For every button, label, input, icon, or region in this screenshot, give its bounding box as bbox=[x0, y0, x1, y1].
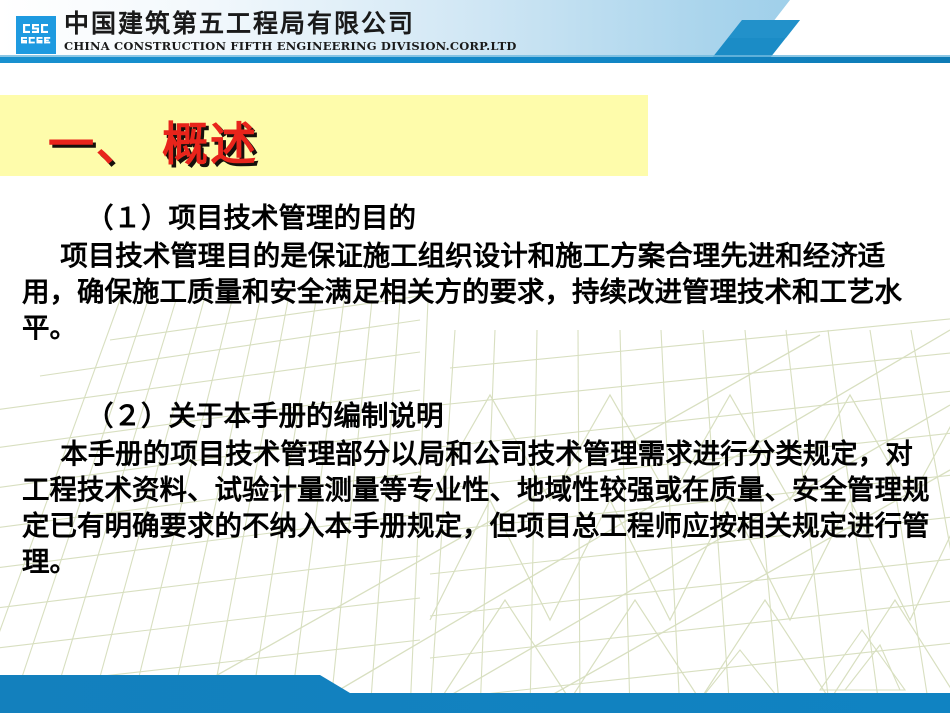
page-title: 一、 概述 bbox=[48, 108, 258, 174]
section-2-heading: （２）关于本手册的编制说明 bbox=[0, 398, 950, 434]
section-2-body: 本手册的项目技术管理部分以局和公司技术管理需求进行分类规定，对工程技术资料、试验… bbox=[0, 436, 950, 580]
header-content: 中国建筑第五工程局有限公司 CHINA CONSTRUCTION FIFTH E… bbox=[0, 0, 950, 60]
company-name-en: CHINA CONSTRUCTION FIFTH ENGINEERING DIV… bbox=[64, 39, 484, 54]
company-name-cn: 中国建筑第五工程局有限公司 bbox=[64, 9, 484, 39]
company-name-block: 中国建筑第五工程局有限公司 CHINA CONSTRUCTION FIFTH E… bbox=[64, 9, 484, 54]
slide-header: 中国建筑第五工程局有限公司 CHINA CONSTRUCTION FIFTH E… bbox=[0, 0, 950, 64]
slide-body: （１）项目技术管理的目的 项目技术管理目的是保证施工组织设计和施工方案合理先进和… bbox=[0, 200, 950, 580]
slide-canvas: 中国建筑第五工程局有限公司 CHINA CONSTRUCTION FIFTH E… bbox=[0, 0, 950, 713]
title-banner: 一、 概述 bbox=[0, 95, 648, 176]
cscec-logo-icon bbox=[16, 16, 56, 54]
section-1-heading: （１）项目技术管理的目的 bbox=[0, 200, 950, 236]
footer-band bbox=[0, 663, 950, 713]
section-spacer bbox=[0, 346, 950, 398]
section-1-body: 项目技术管理目的是保证施工组织设计和施工方案合理先进和经济适用，确保施工质量和安… bbox=[0, 238, 950, 346]
